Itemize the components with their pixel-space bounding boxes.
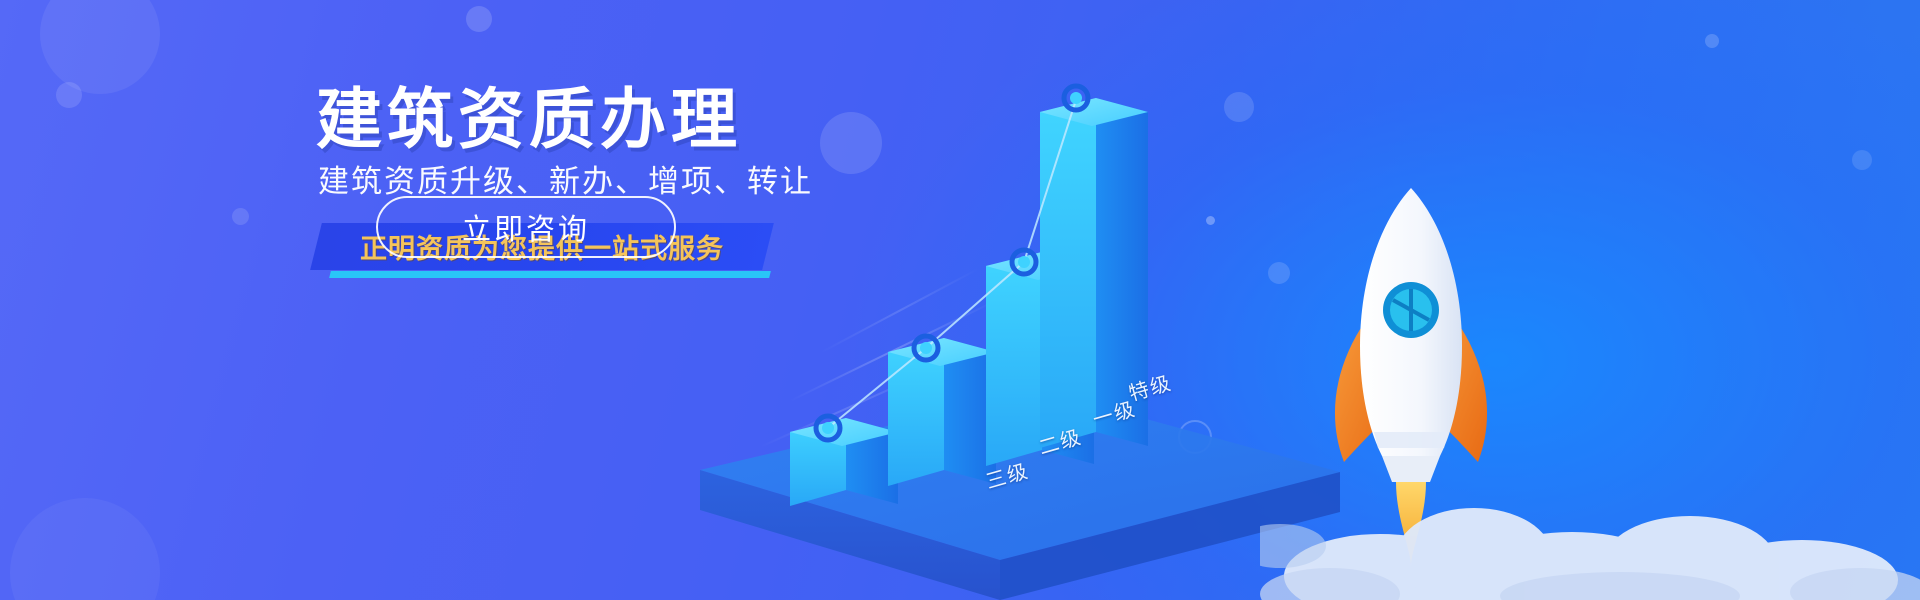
chart-bar — [888, 338, 996, 486]
bokeh-circle — [232, 208, 249, 225]
rocket-stripe — [1374, 432, 1448, 448]
bar-chart: 三级 二级 一级 特级 — [640, 60, 1340, 600]
bokeh-circle — [466, 6, 492, 32]
hero-banner: 建筑资质办理 建筑资质升级、新办、增项、转让 正明资质为您提供一站式服务 立即咨… — [0, 0, 1920, 600]
cloud-icon — [1260, 450, 1920, 600]
bokeh-circle — [40, 0, 160, 94]
bokeh-circle — [10, 498, 160, 600]
consult-now-button[interactable]: 立即咨询 — [376, 196, 676, 258]
bokeh-circle — [1705, 34, 1719, 48]
bokeh-circle — [1852, 150, 1872, 170]
bokeh-circle — [56, 82, 82, 108]
bar-chart-svg — [640, 60, 1340, 600]
